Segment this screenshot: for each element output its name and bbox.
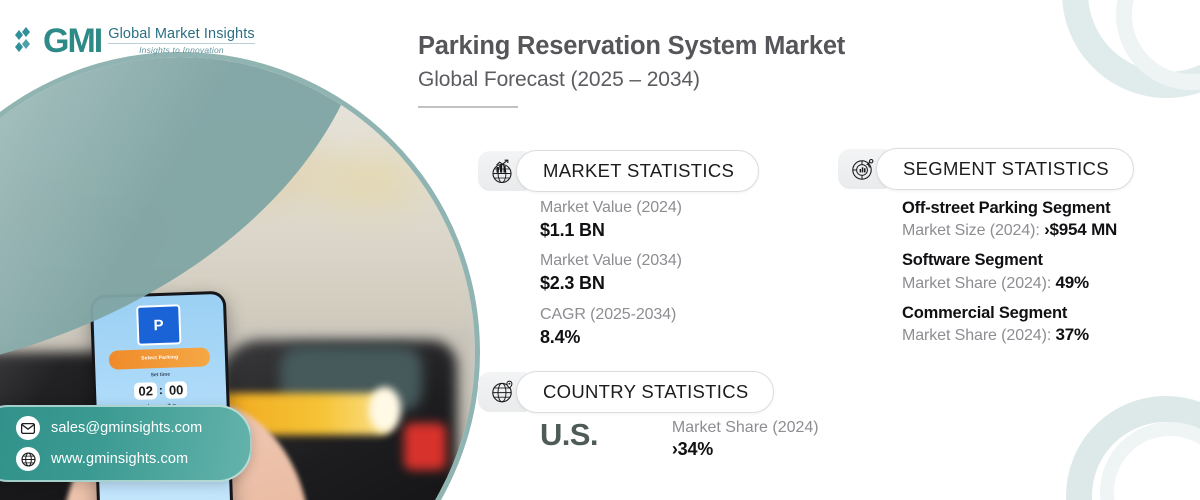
segment-statistics-pill[interactable]: SEGMENT STATISTICS bbox=[876, 148, 1134, 190]
country-metric: Market Share (2024) ›34% bbox=[672, 418, 819, 460]
logo-wordmark: Global Market Insights Insights to Innov… bbox=[108, 27, 254, 56]
decorative-ring-bottom-right bbox=[1066, 396, 1200, 500]
country-metric-label: Market Share (2024) bbox=[672, 418, 819, 438]
country-metric-value: ›34% bbox=[672, 439, 819, 460]
parking-p-sign-icon: P bbox=[136, 305, 181, 346]
contact-website-text: www.gminsights.com bbox=[51, 451, 188, 467]
parking-app-banner: Select Parking bbox=[109, 347, 211, 369]
page-subtitle: Global Forecast (2025 – 2034) bbox=[418, 68, 845, 92]
segment-metric-value: ›$954 MN bbox=[1044, 220, 1117, 239]
country-statistics-body: U.S. Market Share (2024) ›34% bbox=[540, 418, 819, 460]
segment-name: Off-street Parking Segment bbox=[902, 198, 1117, 219]
country-name: U.S. bbox=[540, 418, 598, 452]
segment-statistics-list: Off-street Parking Segment Market Size (… bbox=[902, 198, 1117, 355]
market-stat-label: Market Value (2034) bbox=[540, 251, 682, 271]
country-statistics-label: COUNTRY STATISTICS bbox=[543, 381, 749, 403]
segment-statistics-label: SEGMENT STATISTICS bbox=[903, 158, 1109, 180]
logo-company-name: Global Market Insights bbox=[108, 27, 254, 43]
market-stat-label: Market Value (2024) bbox=[540, 198, 682, 218]
segment-metric-label: Market Size (2024): bbox=[902, 222, 1044, 239]
market-stat-row: CAGR (2025-2034) 8.4% bbox=[540, 305, 682, 349]
market-stat-row: Market Value (2034) $2.3 BN bbox=[540, 251, 682, 295]
segment-row: Software Segment Market Share (2024): 49… bbox=[902, 250, 1117, 294]
segment-metric-line: Market Share (2024): 49% bbox=[902, 272, 1117, 295]
market-stat-value: 8.4% bbox=[540, 326, 682, 349]
contact-email-text: sales@gminsights.com bbox=[51, 420, 202, 436]
logo-tagline: Insights to Innovation bbox=[108, 45, 254, 55]
market-statistics-pill[interactable]: MARKET STATISTICS bbox=[516, 150, 759, 192]
segment-metric-label: Market Share (2024): bbox=[902, 327, 1056, 344]
market-stat-value: $2.3 BN bbox=[540, 272, 682, 295]
segment-metric-line: Market Share (2024): 37% bbox=[902, 324, 1117, 347]
country-statistics-pill[interactable]: COUNTRY STATISTICS bbox=[516, 371, 774, 413]
logo-mark-text: GMI bbox=[43, 24, 101, 58]
contact-pill: sales@gminsights.com www.gminsights.com bbox=[0, 405, 252, 482]
market-statistics-list: Market Value (2024) $1.1 BN Market Value… bbox=[540, 198, 682, 358]
market-stat-label: CAGR (2025-2034) bbox=[540, 305, 682, 325]
segment-metric-value: 49% bbox=[1056, 273, 1089, 292]
globe-icon bbox=[16, 447, 40, 471]
logo-diamonds-icon bbox=[14, 26, 36, 56]
contact-email-row[interactable]: sales@gminsights.com bbox=[0, 416, 236, 440]
parking-app-hours: 02 bbox=[135, 382, 158, 400]
parking-app-minutes: 00 bbox=[165, 381, 188, 399]
segment-metric-line: Market Size (2024): ›$954 MN bbox=[902, 219, 1117, 242]
segment-statistics-header: SEGMENT STATISTICS bbox=[838, 148, 1134, 190]
segment-metric-value: 37% bbox=[1056, 325, 1089, 344]
contact-website-row[interactable]: www.gminsights.com bbox=[0, 447, 236, 471]
title-divider bbox=[418, 106, 518, 108]
market-stat-row: Market Value (2024) $1.1 BN bbox=[540, 198, 682, 242]
decorative-ring-top-right-inner bbox=[1116, 0, 1200, 90]
segment-name: Commercial Segment bbox=[902, 303, 1117, 324]
gmi-logo[interactable]: GMI Global Market Insights Insights to I… bbox=[14, 24, 255, 58]
logo-divider bbox=[108, 43, 254, 44]
photo-car-right-taillight bbox=[404, 423, 445, 470]
market-statistics-label: MARKET STATISTICS bbox=[543, 160, 734, 182]
segment-name: Software Segment bbox=[902, 250, 1117, 271]
market-statistics-header: MARKET STATISTICS bbox=[478, 150, 759, 192]
segment-row: Commercial Segment Market Share (2024): … bbox=[902, 303, 1117, 347]
infographic-canvas: P Select Parking Set time 02 : 00 + − + … bbox=[0, 0, 1200, 500]
parking-app-set-time-label: Set time bbox=[151, 371, 171, 378]
country-statistics-header: COUNTRY STATISTICS bbox=[478, 371, 774, 413]
decorative-ring-top-right bbox=[1062, 0, 1200, 98]
market-stat-value: $1.1 BN bbox=[540, 219, 682, 242]
parking-app-timer: 02 : 00 bbox=[135, 381, 188, 400]
decorative-ring-bottom-right-inner bbox=[1100, 422, 1200, 500]
segment-row: Off-street Parking Segment Market Size (… bbox=[902, 198, 1117, 242]
envelope-icon bbox=[16, 416, 40, 440]
photo-barrier-light bbox=[369, 387, 401, 431]
segment-metric-label: Market Share (2024): bbox=[902, 275, 1056, 292]
page-title: Parking Reservation System Market bbox=[418, 32, 845, 61]
page-title-block: Parking Reservation System Market Global… bbox=[418, 32, 845, 108]
parking-app-colon: : bbox=[159, 383, 163, 397]
